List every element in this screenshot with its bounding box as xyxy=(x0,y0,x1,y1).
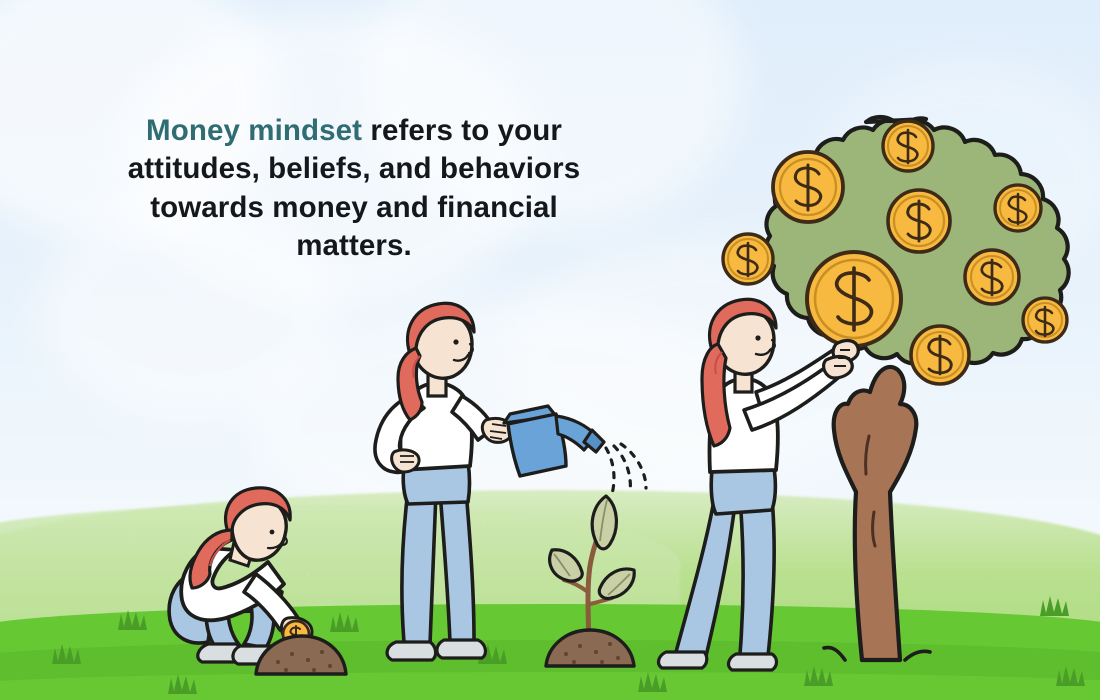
seedling-plant xyxy=(550,496,635,642)
tree-trunk xyxy=(824,367,930,660)
caption-text: Money mindset refers to your attitudes, … xyxy=(104,112,604,265)
soil-mound-medium xyxy=(546,630,634,666)
scene-artwork xyxy=(0,0,1100,700)
coin-main xyxy=(807,252,901,346)
water-stream xyxy=(606,444,646,494)
standing-woman xyxy=(375,303,646,660)
coin-far-right xyxy=(1023,298,1067,342)
reaching-woman xyxy=(659,299,859,670)
coin-low-center xyxy=(911,326,969,384)
caption-highlight: Money mindset xyxy=(146,114,362,147)
coin-right xyxy=(965,250,1019,304)
coin-upper-right xyxy=(995,185,1041,231)
coin-mid-center xyxy=(888,190,950,252)
watering-can xyxy=(504,406,604,476)
coin-upper-left xyxy=(773,152,843,222)
coin-top xyxy=(883,121,933,171)
coin-far-left xyxy=(723,234,773,284)
illustration-canvas: Money mindset refers to your attitudes, … xyxy=(0,0,1100,700)
